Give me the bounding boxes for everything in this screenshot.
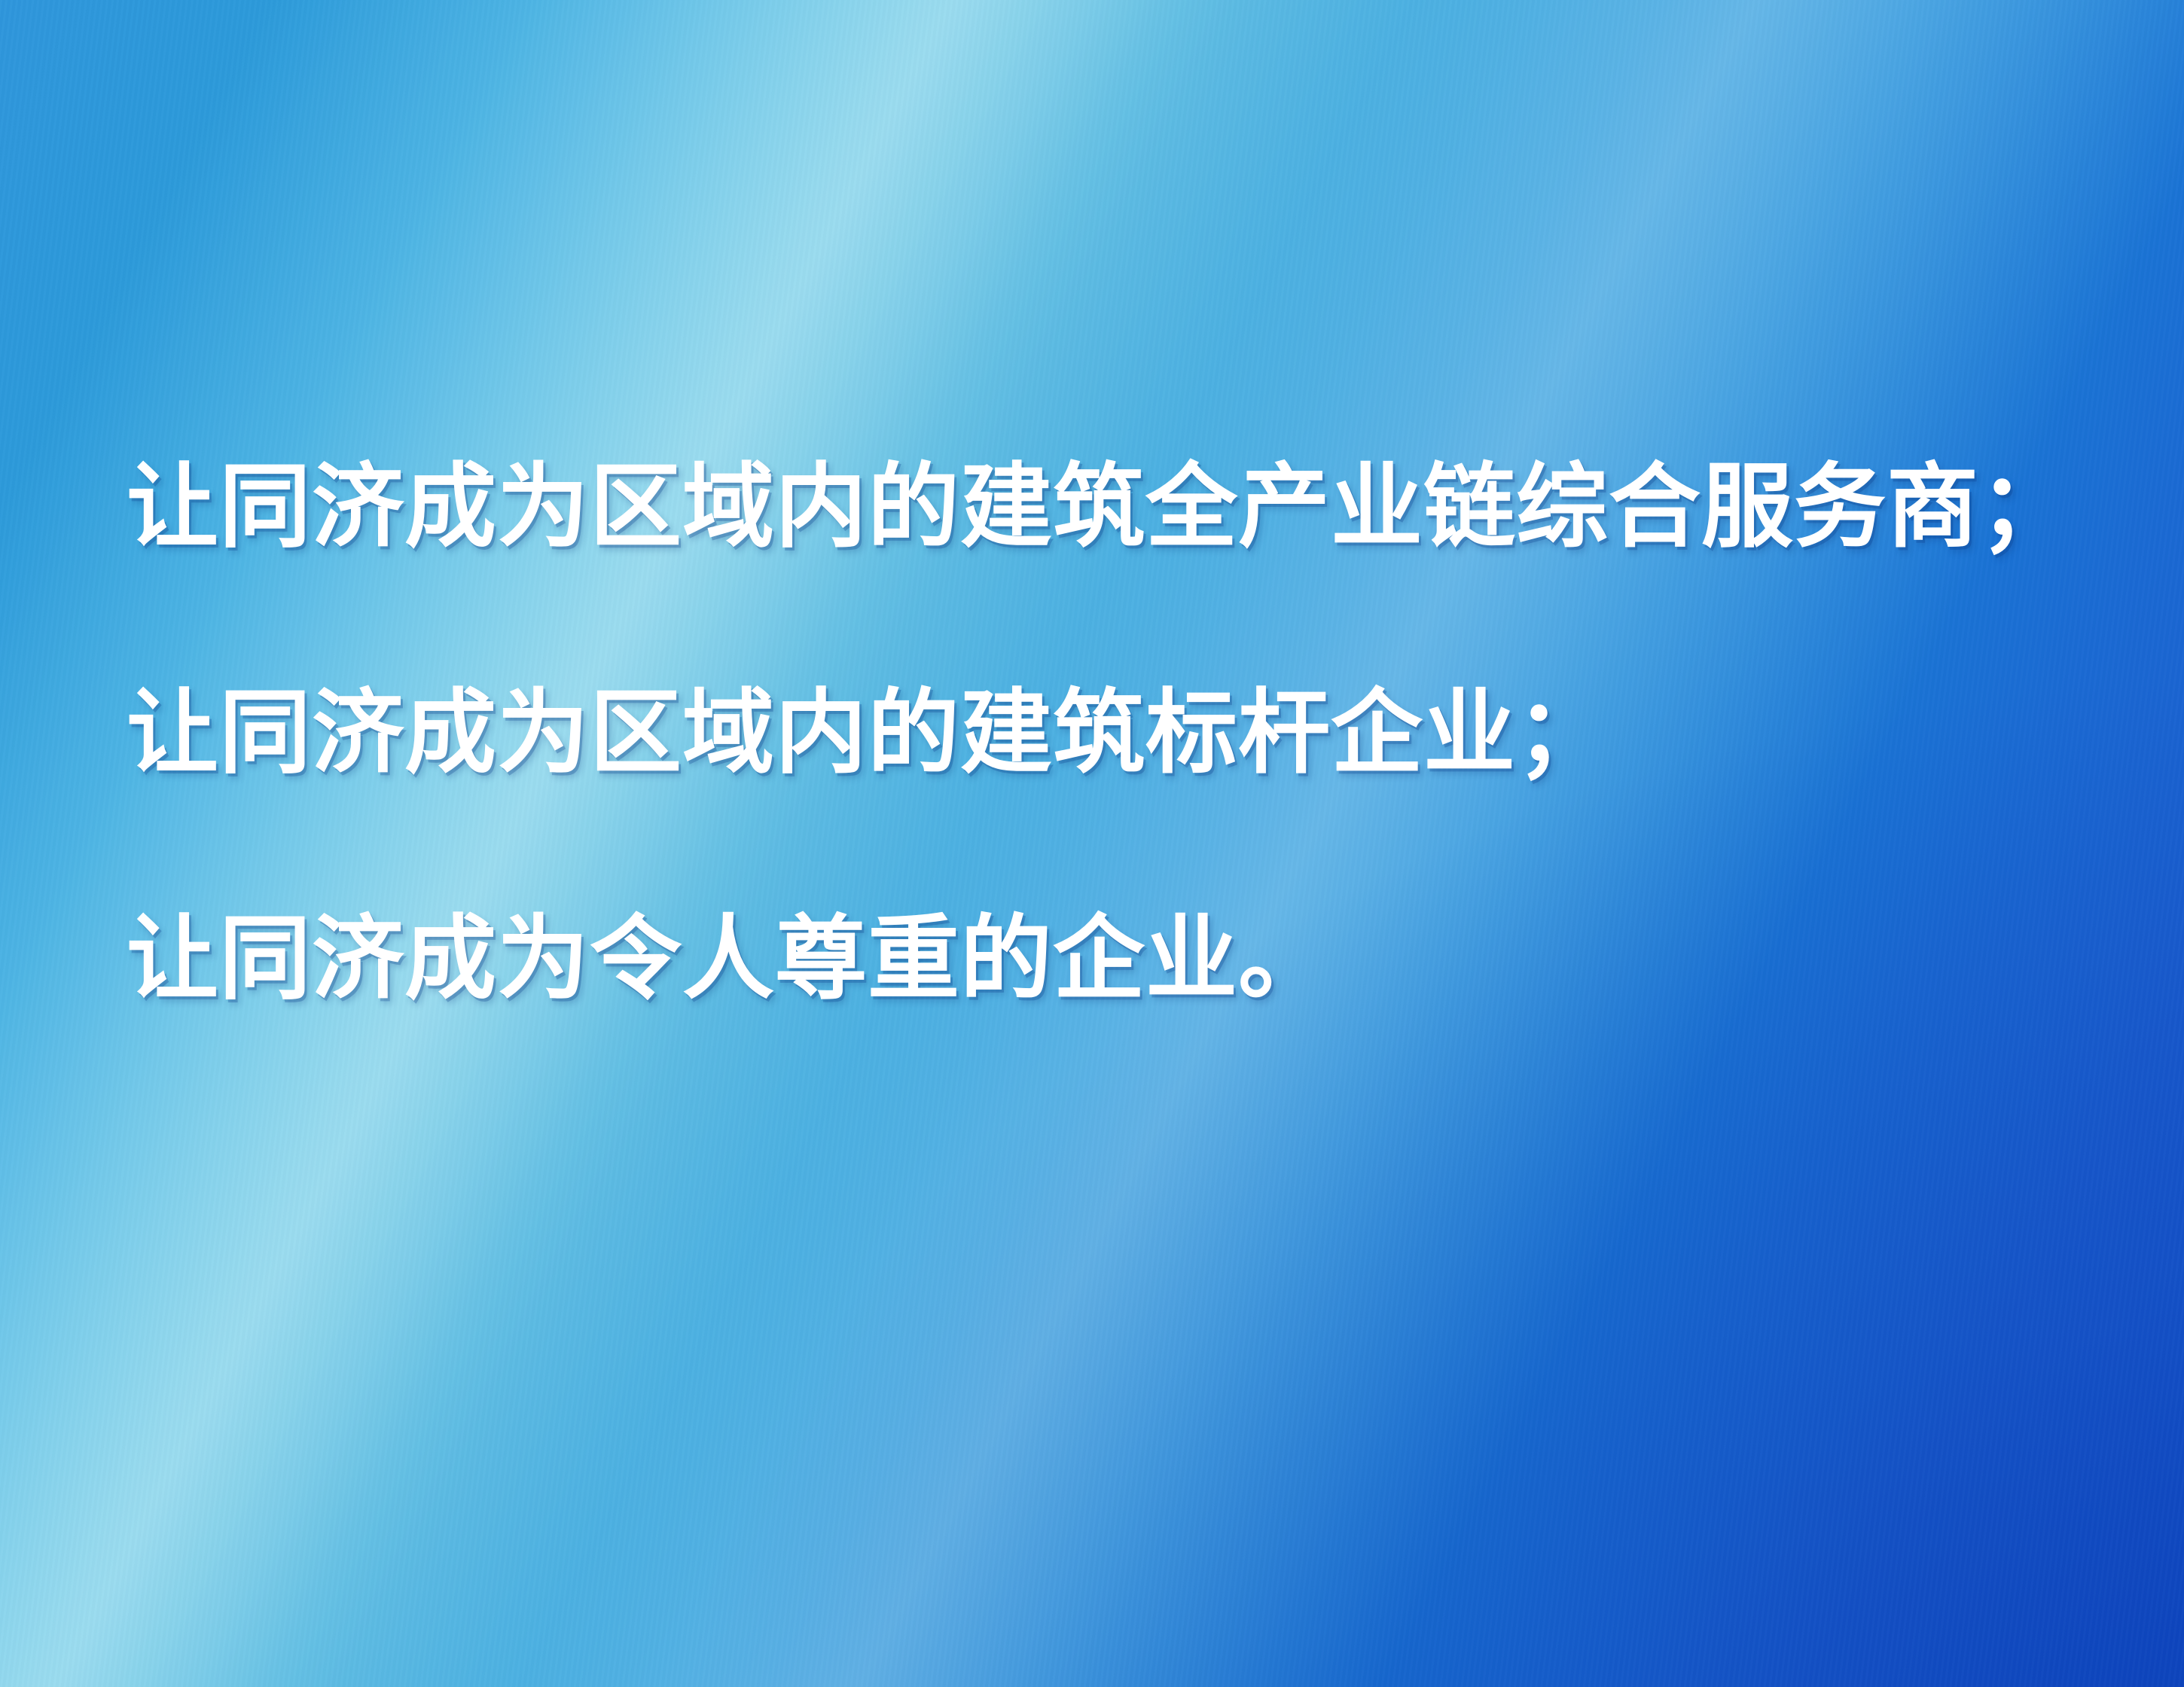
slogan-line-2: 让同济成为区域内的建筑标杆企业； xyxy=(127,687,2085,779)
slogan-line-1: 让同济成为区域内的建筑全产业链综合服务商； xyxy=(127,461,2085,553)
slogan-line-3: 让同济成为令人尊重的企业。 xyxy=(127,913,2085,1005)
slogan-text-block: 让同济成为区域内的建筑全产业链综合服务商； 让同济成为区域内的建筑标杆企业； 让… xyxy=(127,461,2085,1005)
slide-canvas: 让同济成为区域内的建筑全产业链综合服务商； 让同济成为区域内的建筑标杆企业； 让… xyxy=(0,0,2184,1687)
